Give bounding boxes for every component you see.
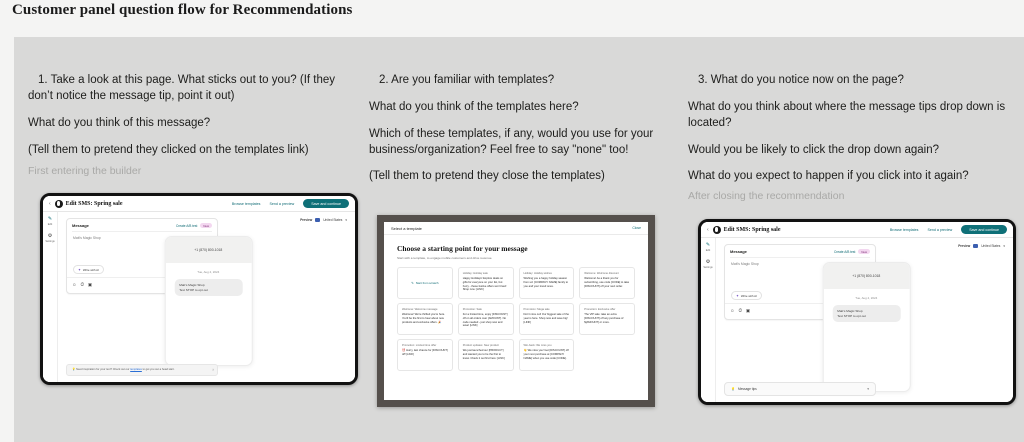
column-3: 3. What do you notice now on the page? W… xyxy=(688,37,1008,203)
clock-icon[interactable]: ⏱ xyxy=(80,282,83,288)
template-card[interactable]: Promotion: Limited time offer ⏰ Hurry, l… xyxy=(397,339,453,371)
templates-modal-bar: Select a template Close xyxy=(384,222,648,235)
template-body: Happy Holidays! Explore deals on gifts f… xyxy=(463,277,509,292)
question-2-4: (Tell them to pretend they close the tem… xyxy=(369,169,669,185)
question-2-1: 2. Are you familiar with templates? xyxy=(369,73,669,89)
templates-modal-body: Choose a starting point for your message… xyxy=(384,235,648,371)
pencil-icon: ✎ xyxy=(411,281,413,285)
create-ab-test-link[interactable]: Create A/B test xyxy=(834,250,855,254)
slide-board: 1. Take a look at this page. What sticks… xyxy=(14,37,1024,442)
sparkle-icon: ✦ xyxy=(78,268,81,272)
message-tips-label: Message tips xyxy=(738,387,757,391)
template-card[interactable]: Promotion: Mega sale Don't miss out! Our… xyxy=(519,303,575,335)
sidebar-item-settings[interactable]: ⚙ Settings xyxy=(45,234,54,243)
page-title: Customer panel question flow for Recomme… xyxy=(12,2,353,19)
phone-message-bubble: Matt's Magic Shop Text STOP to opt out xyxy=(174,279,242,296)
template-body: ⏰ Hurry, last chance for [DISCOUNT] off!… xyxy=(402,349,448,357)
write-with-ai-label: Write with AI xyxy=(83,268,99,272)
template-card[interactable]: Welcome: Welcome message Welcome! We're … xyxy=(397,303,453,335)
template-body: We just launched our [PRODUCT] and wante… xyxy=(463,349,509,360)
brand-logo-icon xyxy=(713,226,721,234)
template-category: Welcome: Welcome discount xyxy=(584,272,630,275)
brand-logo-icon xyxy=(55,200,63,208)
new-badge: New xyxy=(858,249,870,254)
builder-app: ‹ Edit SMS: Spring sale Browse templates… xyxy=(43,196,355,382)
builder-actions: Browse templates Send a preview Save and… xyxy=(890,225,1007,234)
edit-icon: ✎ xyxy=(706,243,710,248)
send-preview-link[interactable]: Send a preview xyxy=(927,228,952,232)
screenshot-builder-after-close: ‹ Edit SMS: Spring sale Browse templates… xyxy=(698,219,1016,405)
new-badge: New xyxy=(200,223,212,228)
template-card[interactable]: Welcome: Welcome discount Welcome! As a … xyxy=(579,267,635,299)
phone-message-line-2: Text STOP to opt out xyxy=(837,314,895,319)
chevron-down-icon[interactable]: ▾ xyxy=(867,387,869,391)
phone-message-bubble: Matt's Magic Shop Text STOP to opt out xyxy=(832,305,900,322)
preview-header: Preview United States ▾ xyxy=(958,244,1005,248)
builder-body: ✎ Edit ⚙ Settings Message xyxy=(701,238,1013,402)
question-block-3: 3. What do you notice now on the page? W… xyxy=(688,37,1008,185)
sidebar-item-edit-label: Edit xyxy=(48,223,52,226)
tip-text-after: to get you out a head start. xyxy=(142,368,175,371)
template-card[interactable]: Holiday: Holiday sale Happy Holidays! Ex… xyxy=(458,267,514,299)
sidebar-item-settings-label: Settings xyxy=(703,266,712,269)
close-icon[interactable]: ☓ xyxy=(212,368,214,373)
template-body: The VIP sale: take an extra [DISCOUNT] o… xyxy=(584,313,630,324)
sidebar-item-settings[interactable]: ⚙ Settings xyxy=(703,260,712,269)
browse-templates-link[interactable]: Browse templates xyxy=(890,228,919,232)
browse-templates-link[interactable]: Browse templates xyxy=(232,202,261,206)
close-icon[interactable]: Close xyxy=(632,226,641,230)
template-category: Promotion: Limited time offer xyxy=(402,344,448,347)
preview-label: Preview xyxy=(300,218,312,222)
question-3-1: 3. What do you notice now on the page? xyxy=(688,73,1008,89)
question-1-3: (Tell them to pretend they clicked on th… xyxy=(28,143,358,159)
sidebar-item-edit-label: Edit xyxy=(706,249,710,252)
screenshot-templates-modal: Select a template Close Choose a startin… xyxy=(377,215,655,407)
chevron-left-icon[interactable]: ‹ xyxy=(49,201,51,207)
template-category: Promotion: Mega sale xyxy=(524,308,570,311)
question-2-3: Which of these templates, if any, would … xyxy=(369,127,669,159)
templates-heading: Choose a starting point for your message xyxy=(397,244,635,253)
template-body: Welcome! We're thrilled you're here. You… xyxy=(402,313,448,324)
template-card-blank-label: Start from scratch xyxy=(416,281,439,285)
phone-date: Tue, Aug 4, 2024 xyxy=(165,270,251,274)
question-3-3: Would you be likely to click the drop do… xyxy=(688,143,1008,159)
question-1-2: What do you think of this message? xyxy=(28,116,358,132)
builder-canvas: Message Create A/B test New Matt's Magic… xyxy=(716,238,1013,402)
builder-actions: Browse templates Send a preview Save and… xyxy=(232,199,349,208)
sparkle-icon: ✦ xyxy=(736,294,739,298)
question-3-2: What do you think about where the messag… xyxy=(688,100,1008,132)
builder-sidebar: ✎ Edit ⚙ Settings xyxy=(43,212,58,382)
template-category: Holiday: Holiday wishes xyxy=(524,272,570,275)
templates-grid: ✎ Start from scratch Holiday: Holiday sa… xyxy=(397,267,635,371)
message-tip-banner[interactable]: 💡 Need inspiration for your text? Check … xyxy=(66,364,218,376)
template-body: 👋 We miss you! Get [DISCOUNT] off your n… xyxy=(524,349,570,360)
template-card-blank[interactable]: ✎ Start from scratch xyxy=(397,267,453,299)
template-category: Holiday: Holiday sale xyxy=(463,272,509,275)
create-ab-test-link[interactable]: Create A/B test xyxy=(176,224,197,228)
builder-title: Edit SMS: Spring sale xyxy=(724,227,781,233)
template-card[interactable]: Promotion: Sale For a limited time, enjo… xyxy=(458,303,514,335)
emoji-icon[interactable]: ☺ xyxy=(730,308,734,314)
phone-preview: +1 (870) 800-1018 Tue, Aug 4, 2024 Matt'… xyxy=(164,236,252,366)
builder-sidebar: ✎ Edit ⚙ Settings xyxy=(701,238,716,402)
template-category: Promotion: Sale xyxy=(463,308,509,311)
screenshot-builder-initial: ‹ Edit SMS: Spring sale Browse templates… xyxy=(40,193,358,385)
image-icon[interactable]: ▣ xyxy=(746,308,750,314)
preview-country: United States xyxy=(981,244,1000,248)
message-card-header: Message Create A/B test New xyxy=(67,219,217,231)
question-block-1: 1. Take a look at this page. What sticks… xyxy=(28,37,358,158)
preview-header: Preview United States ▾ xyxy=(300,218,347,222)
write-with-ai-label: Write with AI xyxy=(741,294,757,298)
clock-icon[interactable]: ⏱ xyxy=(738,308,741,314)
us-flag-icon xyxy=(973,244,978,248)
template-card[interactable]: Holiday: Holiday wishes Wishing you a ha… xyxy=(519,267,575,299)
save-and-continue-button[interactable]: Save and continue xyxy=(961,225,1007,234)
sidebar-item-edit[interactable]: ✎ Edit xyxy=(706,243,710,252)
template-category: Win-back: We miss you xyxy=(524,344,570,347)
builder-body: ✎ Edit ⚙ Settings Message xyxy=(43,212,355,382)
chevron-down-icon[interactable]: ▾ xyxy=(1003,244,1005,248)
gear-icon: ⚙ xyxy=(45,234,54,239)
sidebar-item-edit[interactable]: ✎ Edit xyxy=(48,217,52,226)
question-block-2: 2. Are you familiar with templates? What… xyxy=(369,37,669,185)
template-category: Welcome: Welcome message xyxy=(402,308,448,311)
send-preview-link[interactable]: Send a preview xyxy=(269,202,294,206)
message-label: Message xyxy=(72,223,89,228)
templates-subheading: Start with a template, to engage mobile … xyxy=(397,256,635,260)
column-1: 1. Take a look at this page. What sticks… xyxy=(28,37,358,178)
phone-message-line-2: Text STOP to opt out xyxy=(179,288,237,293)
template-body: Wishing you a happy holiday season from … xyxy=(524,277,570,288)
save-and-continue-button[interactable]: Save and continue xyxy=(303,199,349,208)
phone-number: +1 (870) 800-1018 xyxy=(165,237,251,263)
question-2-2: What do you think of the templates here? xyxy=(369,100,669,116)
chevron-down-icon[interactable]: ▾ xyxy=(345,218,347,222)
builder-title: Edit SMS: Spring sale xyxy=(66,201,123,207)
phone-preview: +1 (870) 800-1018 Tue, Aug 4, 2024 Matt'… xyxy=(822,262,910,392)
template-card[interactable]: Promotion: Exclusive offer The VIP sale:… xyxy=(579,303,635,335)
chevron-left-icon[interactable]: ‹ xyxy=(707,227,709,233)
template-category: Product updates: New product xyxy=(463,344,509,347)
builder-canvas: Message Create A/B test New Matt's Magic… xyxy=(58,212,355,382)
builder-topbar: ‹ Edit SMS: Spring sale Browse templates… xyxy=(701,222,1013,238)
sidebar-item-settings-label: Settings xyxy=(45,240,54,243)
gear-icon: ⚙ xyxy=(703,260,712,265)
us-flag-icon xyxy=(315,218,320,222)
edit-icon: ✎ xyxy=(48,217,52,222)
question-1-1: 1. Take a look at this page. What sticks… xyxy=(28,73,358,105)
question-3-4: What do you expect to happen if you clic… xyxy=(688,169,1008,185)
builder-topbar: ‹ Edit SMS: Spring sale Browse templates… xyxy=(43,196,355,212)
caption-3: After closing the recommendation xyxy=(688,190,1008,203)
message-label: Message xyxy=(730,249,747,254)
phone-date: Tue, Aug 4, 2024 xyxy=(823,296,909,300)
templates-modal: Select a template Close Choose a startin… xyxy=(384,222,648,400)
tip-templates-link[interactable]: templates xyxy=(130,368,142,371)
template-body: Don't miss out! Our biggest sale of the … xyxy=(524,313,570,324)
lightbulb-icon: 💡 xyxy=(72,368,75,371)
write-with-ai-button[interactable]: ✦ Write with AI xyxy=(731,291,762,300)
phone-number: +1 (870) 800-1018 xyxy=(823,263,909,289)
lightbulb-icon: 💡 xyxy=(731,387,735,391)
template-card[interactable]: Win-back: We miss you 👋 We miss you! Get… xyxy=(519,339,575,371)
preview-label: Preview xyxy=(958,244,970,248)
column-2: 2. Are you familiar with templates? What… xyxy=(369,37,669,196)
templates-modal-title: Select a template xyxy=(391,226,422,231)
preview-country: United States xyxy=(323,218,342,222)
write-with-ai-button[interactable]: ✦ Write with AI xyxy=(73,265,104,274)
builder-app: ‹ Edit SMS: Spring sale Browse templates… xyxy=(701,222,1013,402)
template-body: For a limited time, enjoy [DISCOUNT] off… xyxy=(463,313,509,328)
template-card[interactable]: Product updates: New product We just lau… xyxy=(458,339,514,371)
tip-text-before: Need inspiration for your text? Check ou… xyxy=(76,368,130,371)
template-category: Promotion: Exclusive offer xyxy=(584,308,630,311)
image-icon[interactable]: ▣ xyxy=(88,282,92,288)
message-tips-dropdown[interactable]: 💡 Message tips ▾ xyxy=(724,382,876,396)
emoji-icon[interactable]: ☺ xyxy=(72,282,76,288)
message-card-header: Message Create A/B test New xyxy=(725,245,875,257)
caption-1: First entering the builder xyxy=(28,165,358,178)
template-body: Welcome! As a thank you for subscribing,… xyxy=(584,277,630,288)
